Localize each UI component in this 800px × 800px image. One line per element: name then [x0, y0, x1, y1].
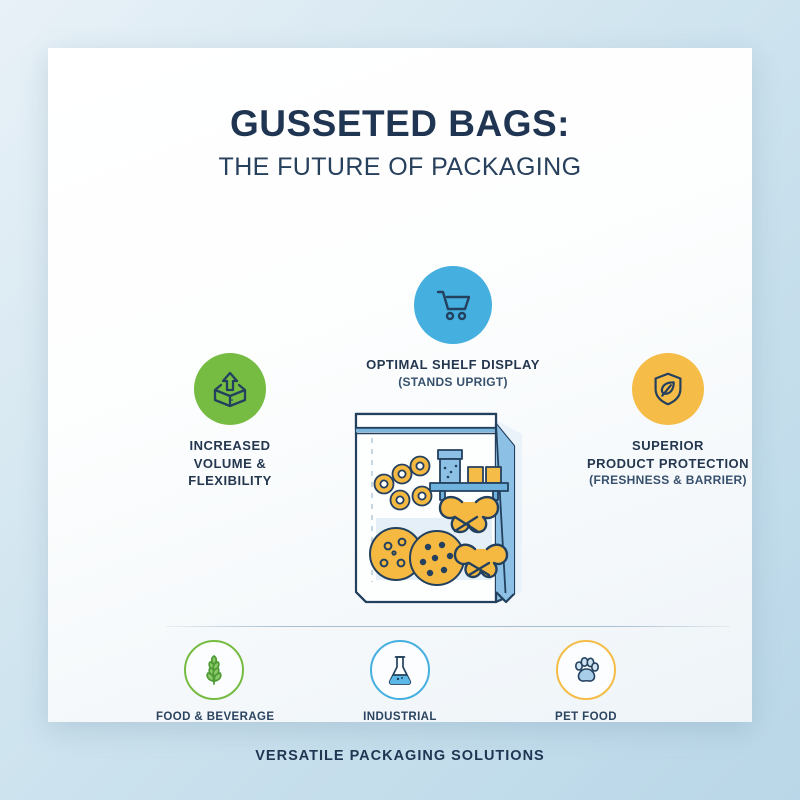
- category-food-beverage: FOOD & BEVERAGE: [156, 640, 272, 723]
- category-pet-food: PET FOOD: [528, 640, 644, 723]
- footer-tagline: VERSATILE PACKAGING SOLUTIONS: [0, 748, 800, 764]
- infographic-card: GUSSETED BAGS: THE FUTURE OF PACKAGING O…: [48, 48, 752, 722]
- feature-label-line-2: VOLUME &: [156, 455, 304, 473]
- category-label: PET FOOD: [528, 711, 644, 723]
- feature-label-line-3: FLEXIBILITY: [156, 472, 304, 490]
- feature-label-line-2: PRODUCT PROTECTION: [568, 455, 768, 473]
- shopping-cart-icon: [414, 266, 492, 344]
- page-title: GUSSETED BAGS:: [48, 105, 752, 144]
- feature-sublabel: (FRESHNESS & BARRIER): [568, 472, 768, 488]
- title-block: GUSSETED BAGS: THE FUTURE OF PACKAGING: [48, 105, 752, 182]
- feature-label-line-1: INCREASED: [156, 437, 304, 455]
- paw-icon: [556, 640, 616, 700]
- feature-sublabel: (STANDS UPRIGT): [338, 374, 568, 390]
- feature-increased-volume: INCREASED VOLUME & FLEXIBILITY: [156, 353, 304, 490]
- flask-icon: [370, 640, 430, 700]
- feature-label-line-1: SUPERIOR: [568, 437, 768, 455]
- open-box-up-arrow-icon: [194, 353, 266, 425]
- shield-leaf-icon: [632, 353, 704, 425]
- feature-optimal-shelf-display: OPTIMAL SHELF DISPLAY (STANDS UPRIGT): [338, 266, 568, 390]
- section-divider: [166, 626, 730, 627]
- feature-superior-product-protection: SUPERIOR PRODUCT PROTECTION (FRESHNESS &…: [568, 353, 768, 488]
- category-label: FOOD & BEVERAGE: [156, 711, 272, 723]
- category-row: FOOD & BEVERAGE INDUSTRIAL: [48, 640, 752, 723]
- category-industrial: INDUSTRIAL: [342, 640, 458, 723]
- category-label: INDUSTRIAL: [342, 711, 458, 723]
- page-subtitle: THE FUTURE OF PACKAGING: [48, 153, 752, 182]
- gusseted-bag-illustration: [344, 406, 556, 611]
- wheat-icon: [184, 640, 244, 700]
- feature-label: OPTIMAL SHELF DISPLAY: [338, 356, 568, 374]
